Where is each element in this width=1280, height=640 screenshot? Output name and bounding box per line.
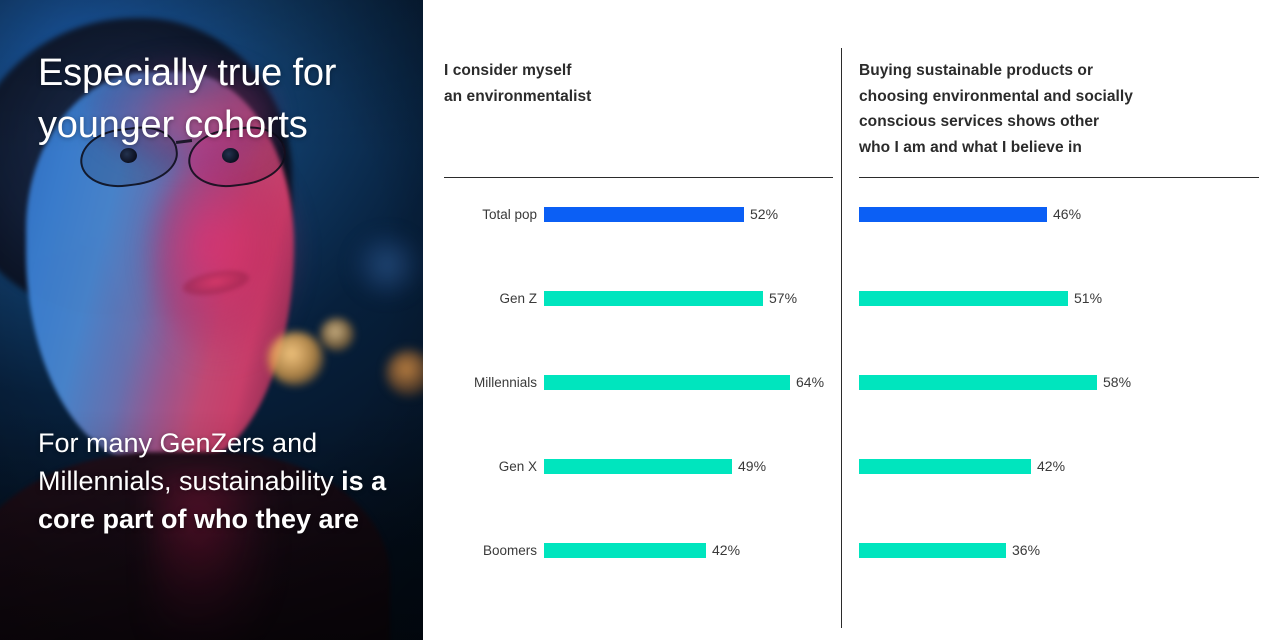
table-row: Millennials 64% [444, 372, 833, 456]
bar-value-label: 58% [1103, 375, 1131, 390]
bar-track: 46% [859, 204, 1081, 225]
charts-area: I consider myself an environmentalist To… [423, 0, 1280, 640]
bar-millennials [859, 375, 1097, 390]
bar-boomers [544, 543, 706, 558]
table-row: Gen X 49% [444, 456, 833, 540]
chart-title-line-1: I consider myself [444, 62, 571, 79]
table-row: Gen Z 57% [444, 288, 833, 372]
chart-title-rule [859, 177, 1259, 178]
bar-track: 49% [544, 456, 766, 477]
bar-boomers [859, 543, 1006, 558]
bar-track: 58% [859, 372, 1131, 393]
table-row: Total pop 52% [444, 204, 833, 288]
bar-gen-z [859, 291, 1068, 306]
bar-category-label: Millennials [444, 375, 537, 390]
chart-panel-environmentalist: I consider myself an environmentalist To… [444, 0, 833, 640]
bar-category-label: Gen Z [444, 291, 537, 306]
hero-kicker: For many GenZers and Millennials, sustai… [38, 424, 410, 538]
table-row: 42% [859, 456, 1259, 540]
table-row: Boomers 42% [444, 540, 833, 624]
bar-track: 42% [544, 540, 740, 561]
chart-panel-sustainable-identity: Buying sustainable products or choosing … [859, 0, 1259, 640]
bar-category-label: Total pop [444, 207, 537, 222]
bar-value-label: 52% [750, 207, 778, 222]
bar-value-label: 57% [769, 291, 797, 306]
table-row: 51% [859, 288, 1259, 372]
bar-category-label: Gen X [444, 459, 537, 474]
chart-title-environmentalist: I consider myself an environmentalist [444, 58, 824, 109]
bar-category-label: Boomers [444, 543, 537, 558]
hero-panel: Especially true for younger cohorts For … [0, 0, 423, 640]
chart-title-line-4: who I am and what I believe in [859, 139, 1082, 156]
bar-value-label: 49% [738, 459, 766, 474]
bar-total-pop [859, 207, 1047, 222]
bar-gen-x [859, 459, 1031, 474]
table-row: 58% [859, 372, 1259, 456]
hero-kicker-plain: For many GenZers and Millennials, sustai… [38, 428, 341, 496]
bar-track: 51% [859, 288, 1102, 309]
bar-value-label: 51% [1074, 291, 1102, 306]
table-row: 46% [859, 204, 1259, 288]
chart-title-line-3: conscious services shows other [859, 113, 1099, 130]
bar-millennials [544, 375, 790, 390]
bar-track: 42% [859, 456, 1065, 477]
table-row: 36% [859, 540, 1259, 624]
chart-title-sustainable-identity: Buying sustainable products or choosing … [859, 58, 1259, 160]
slide-root: Especially true for younger cohorts For … [0, 0, 1280, 640]
bar-value-label: 36% [1012, 543, 1040, 558]
chart-title-rule [444, 177, 833, 178]
bar-value-label: 46% [1053, 207, 1081, 222]
bar-track: 52% [544, 204, 778, 225]
chart-rows-sustainable-identity: 46% 51% [859, 204, 1259, 624]
bar-gen-x [544, 459, 732, 474]
chart-rows-environmentalist: Total pop 52% Gen Z 57% [444, 204, 833, 624]
chart-title-line-2: choosing environmental and socially [859, 88, 1133, 105]
chart-title-line-2: an environmentalist [444, 88, 591, 105]
bar-gen-z [544, 291, 763, 306]
bar-value-label: 42% [1037, 459, 1065, 474]
bar-value-label: 42% [712, 543, 740, 558]
bar-track: 57% [544, 288, 797, 309]
chart-title-line-1: Buying sustainable products or [859, 62, 1093, 79]
bar-total-pop [544, 207, 744, 222]
bar-track: 36% [859, 540, 1040, 561]
panel-divider [841, 48, 842, 628]
bar-track: 64% [544, 372, 824, 393]
hero-title: Especially true for younger cohorts [38, 47, 408, 151]
bar-value-label: 64% [796, 375, 824, 390]
